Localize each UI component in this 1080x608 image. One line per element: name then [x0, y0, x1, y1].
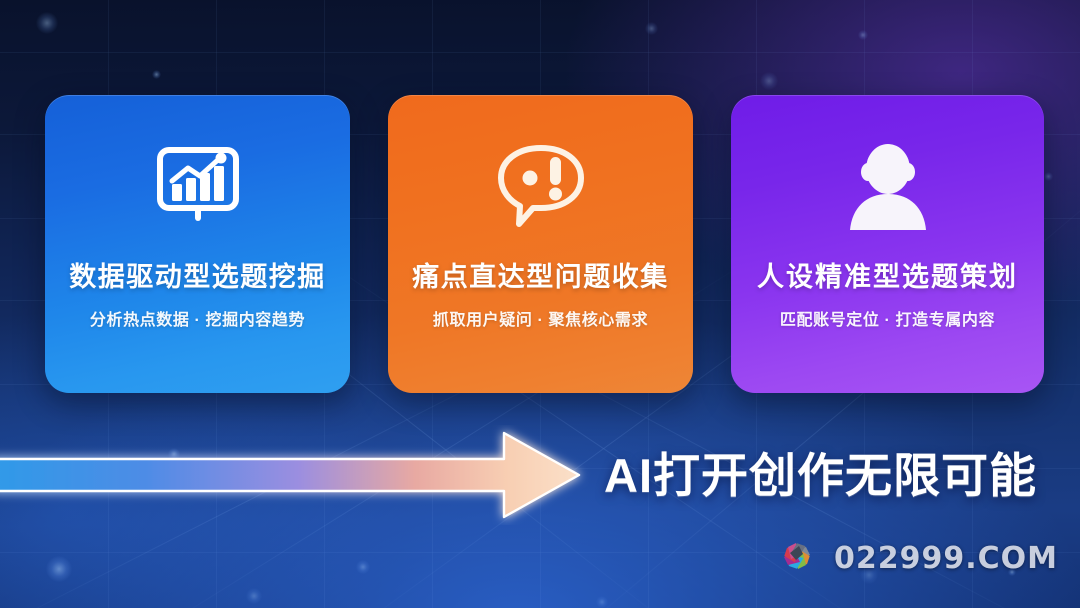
site-watermark[interactable]: 022999.COM: [772, 531, 1058, 586]
poster-stage: 数据驱动型选题挖掘 分析热点数据 · 挖掘内容趋势 痛点直达型问题收集 抓取用户…: [0, 0, 1080, 608]
feature-card-title: 数据驱动型选题挖掘: [69, 255, 326, 294]
feature-card-data-driven[interactable]: 数据驱动型选题挖掘 分析热点数据 · 挖掘内容趋势: [45, 95, 350, 393]
right-arrow-graphic: [0, 425, 594, 525]
feature-card-pain-point[interactable]: 痛点直达型问题收集 抓取用户疑问 · 聚焦核心需求: [388, 95, 693, 393]
page-headline: AI打开创作无限可能: [604, 437, 1037, 506]
bar-chart-board-icon: [152, 133, 244, 239]
feature-card-subtitle: 分析热点数据 · 挖掘内容趋势: [90, 306, 305, 330]
pinwheel-logo-icon: [772, 531, 822, 586]
feature-card-title: 痛点直达型问题收集: [412, 255, 669, 294]
feature-card-title: 人设精准型选题策划: [757, 255, 1018, 294]
feature-card-persona[interactable]: 人设精准型选题策划 匹配账号定位 · 打造专属内容: [731, 95, 1044, 393]
user-avatar-icon: [840, 133, 936, 239]
speech-bubble-exclamation-icon: [493, 133, 589, 239]
feature-card-subtitle: 匹配账号定位 · 打造专属内容: [780, 306, 995, 330]
feature-card-subtitle: 抓取用户疑问 · 聚焦核心需求: [433, 306, 648, 330]
watermark-text: 022999.COM: [834, 541, 1058, 576]
